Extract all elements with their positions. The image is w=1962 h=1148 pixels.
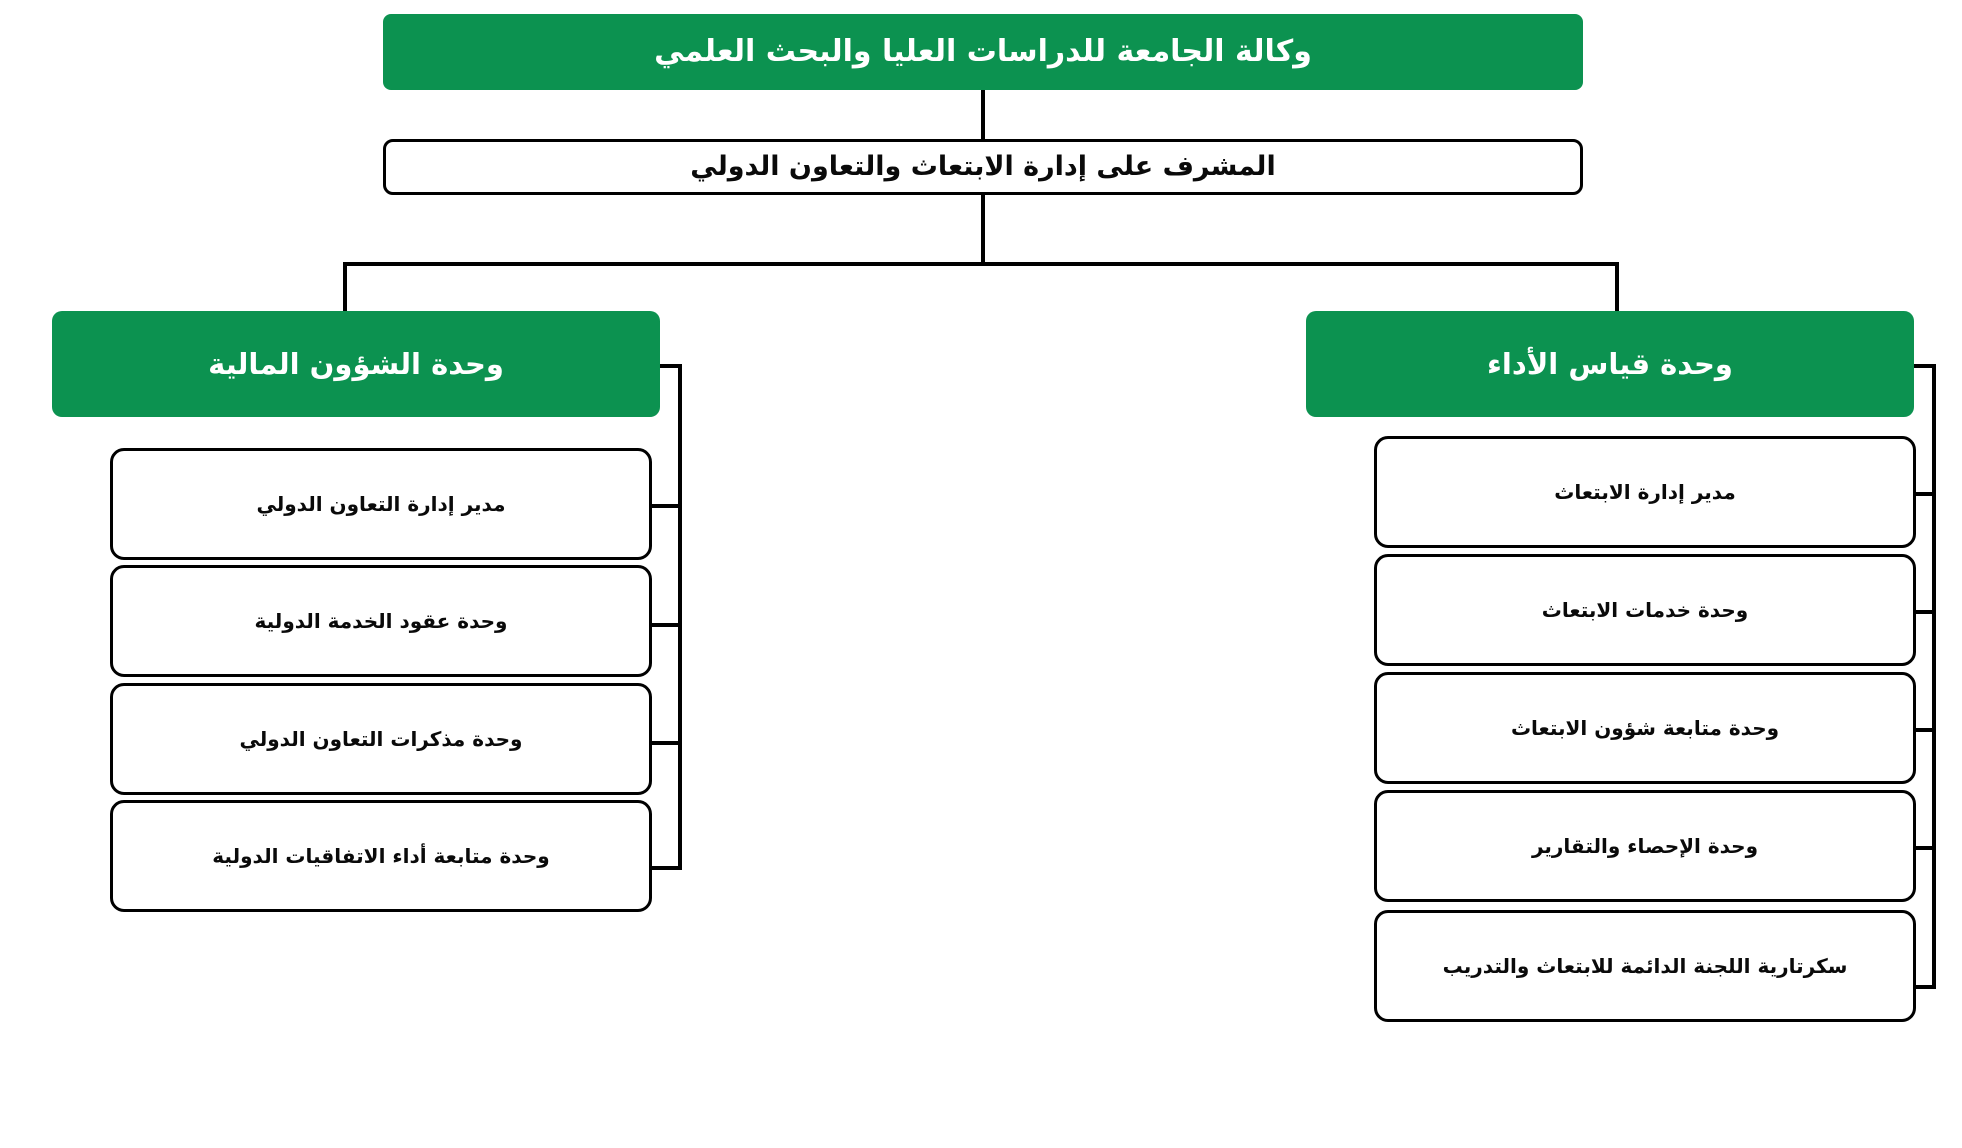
connector-finance-child-4-stub [652, 866, 682, 870]
node-finance-child-3-label: وحدة مذكرات التعاون الدولي [113, 727, 649, 752]
node-supervisor-label: المشرف على إدارة الابتعاث والتعاون الدول… [386, 150, 1580, 184]
node-finance-child-4-label: وحدة متابعة أداء الاتفاقيات الدولية [113, 844, 649, 869]
node-performance-child-5[interactable]: سكرتارية اللجنة الدائمة للابتعاث والتدري… [1374, 910, 1916, 1022]
connector-root-to-supervisor [981, 90, 985, 139]
connector-finance-child-2-stub [652, 623, 682, 627]
node-unit-finance[interactable]: وحدة الشؤون المالية [52, 311, 660, 417]
node-performance-child-2[interactable]: وحدة خدمات الابتعاث [1374, 554, 1916, 666]
node-unit-performance[interactable]: وحدة قياس الأداء [1306, 311, 1914, 417]
node-performance-child-4[interactable]: وحدة الإحصاء والتقارير [1374, 790, 1916, 902]
node-performance-child-3-label: وحدة متابعة شؤون الابتعاث [1377, 716, 1913, 741]
connector-finance-spine [678, 364, 682, 870]
node-finance-child-2-label: وحدة عقود الخدمة الدولية [113, 609, 649, 634]
node-unit-performance-label: وحدة قياس الأداء [1306, 346, 1914, 382]
node-performance-child-4-label: وحدة الإحصاء والتقارير [1377, 834, 1913, 859]
node-performance-child-1[interactable]: مدير إدارة الابتعاث [1374, 436, 1916, 548]
node-performance-child-2-label: وحدة خدمات الابتعاث [1377, 598, 1913, 623]
node-finance-child-3[interactable]: وحدة مذكرات التعاون الدولي [110, 683, 652, 795]
node-performance-child-5-label: سكرتارية اللجنة الدائمة للابتعاث والتدري… [1377, 954, 1913, 979]
connector-supervisor-stem [981, 195, 985, 262]
node-finance-child-4[interactable]: وحدة متابعة أداء الاتفاقيات الدولية [110, 800, 652, 912]
connector-finance-child-1-stub [652, 504, 682, 508]
connector-performance-spine [1932, 364, 1936, 989]
connector-to-branch-finance [343, 262, 347, 313]
node-root-agency-label: وكالة الجامعة للدراسات العليا والبحث الع… [383, 33, 1583, 71]
node-finance-child-2[interactable]: وحدة عقود الخدمة الدولية [110, 565, 652, 677]
node-performance-child-3[interactable]: وحدة متابعة شؤون الابتعاث [1374, 672, 1916, 784]
node-finance-child-1-label: مدير إدارة التعاون الدولي [113, 492, 649, 517]
org-chart-canvas: وكالة الجامعة للدراسات العليا والبحث الع… [0, 0, 1962, 1148]
node-supervisor[interactable]: المشرف على إدارة الابتعاث والتعاون الدول… [383, 139, 1583, 195]
node-performance-child-1-label: مدير إدارة الابتعاث [1377, 480, 1913, 505]
connector-finance-child-3-stub [652, 741, 682, 745]
node-finance-child-1[interactable]: مدير إدارة التعاون الدولي [110, 448, 652, 560]
connector-branch-crossbar [343, 262, 1619, 266]
node-unit-finance-label: وحدة الشؤون المالية [52, 346, 660, 382]
node-root-agency[interactable]: وكالة الجامعة للدراسات العليا والبحث الع… [383, 14, 1583, 90]
connector-to-branch-performance [1615, 262, 1619, 313]
